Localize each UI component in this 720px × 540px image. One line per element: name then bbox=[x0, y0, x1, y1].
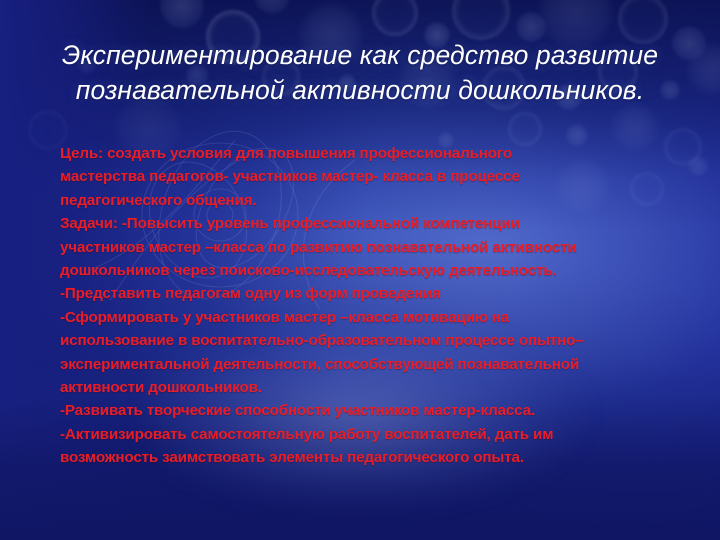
body-line: -Активизировать самостоятельную работу в… bbox=[60, 423, 686, 446]
body-line: -Сформировать у участников мастер –класс… bbox=[60, 306, 686, 329]
body-line: Цель: создать условия для повышения проф… bbox=[60, 142, 686, 165]
body-line: Задачи: -Повысить уровень профессиональн… bbox=[60, 212, 686, 235]
presentation-slide: Экспериментирование как средство развити… bbox=[0, 0, 720, 540]
body-line: педагогического общения. bbox=[60, 189, 686, 212]
slide-title: Экспериментирование как средство развити… bbox=[36, 38, 684, 108]
body-line: дошкольников через поисково-исследовател… bbox=[60, 259, 686, 282]
body-line: активности дошкольников. bbox=[60, 376, 686, 399]
slide-body-text: Цель: создать условия для повышения проф… bbox=[60, 142, 686, 470]
body-line: возможность заимствовать элементы педаго… bbox=[60, 446, 686, 469]
body-line: мастерства педагогов- участников мастер-… bbox=[60, 165, 686, 188]
body-line: экспериментальной деятельности, способст… bbox=[60, 353, 686, 376]
body-line: -Развивать творческие способности участн… bbox=[60, 399, 686, 422]
body-line: использование в воспитательно-образовате… bbox=[60, 329, 686, 352]
body-line: участников мастер –класса по развитию по… bbox=[60, 236, 686, 259]
body-line: -Представить педагогам одну из форм пров… bbox=[60, 282, 686, 305]
